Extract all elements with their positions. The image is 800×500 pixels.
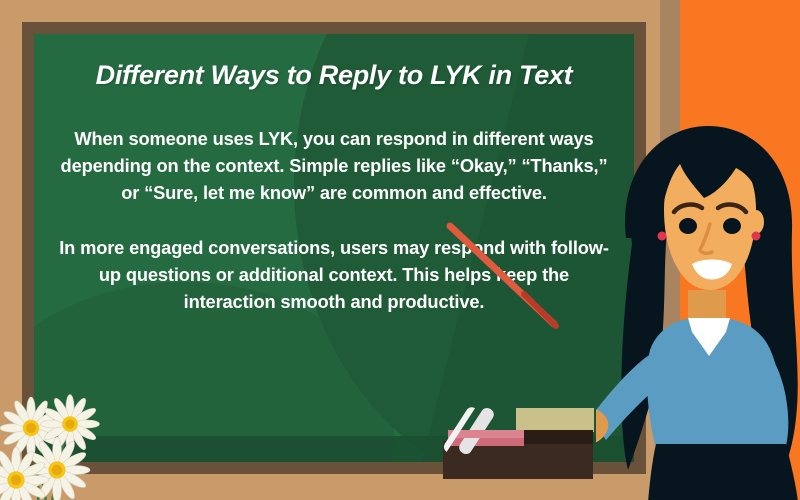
board-title: Different Ways to Reply to LYK in Text: [44, 60, 624, 91]
ear: [748, 210, 764, 234]
board-paragraph-1: When someone uses LYK, you can respond i…: [44, 125, 624, 206]
daisy-flowers: [0, 378, 134, 500]
daisy-group: [0, 395, 100, 500]
pointer-stick: [446, 222, 576, 342]
teacher-illustration: [596, 118, 800, 500]
eye-right: [723, 218, 741, 234]
poster-canvas: Different Ways to Reply to LYK in Text W…: [0, 0, 800, 500]
eye-left: [679, 218, 697, 234]
skirt: [648, 444, 798, 500]
earring-icon: [752, 232, 761, 241]
pointer-tip: [524, 294, 556, 326]
khaki-eraser-block: [516, 408, 594, 432]
earring-icon: [658, 232, 667, 241]
